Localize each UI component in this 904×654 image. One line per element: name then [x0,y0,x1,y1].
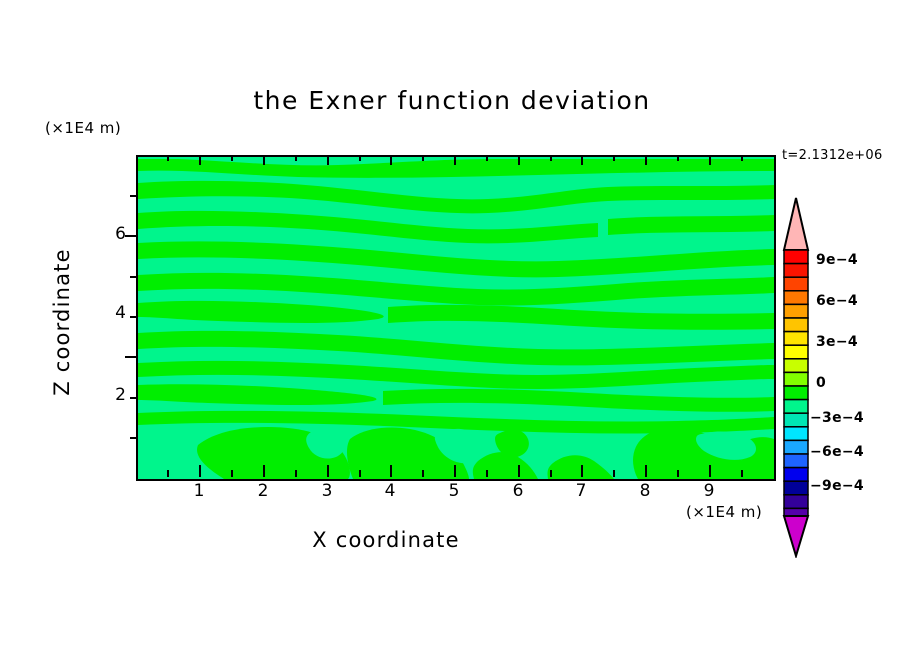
x-minor-tick [231,470,233,477]
x-tick-label: 2 [248,481,278,501]
x-top-minor-tick [677,155,679,161]
x-major-tick [263,465,265,477]
x-minor-tick [613,470,615,477]
y-minor-tick [130,195,137,197]
colorbar-tick-label: −3e−4 [810,410,864,426]
y-tick-label: 2 [104,385,126,405]
colorbar-tick-label: −9e−4 [810,478,864,494]
x-top-minor-tick [486,155,488,161]
x-top-major-tick [454,155,456,165]
x-top-minor-tick [231,155,233,161]
x-top-minor-tick [550,155,552,161]
x-top-major-tick [581,155,583,165]
x-major-tick [581,465,583,477]
y-tick-label: 6 [104,224,126,244]
x-tick-label: 6 [503,481,533,501]
y-minor-tick [130,276,137,278]
y-tick-label: 4 [104,303,126,323]
x-top-major-tick [709,155,711,165]
x-minor-tick [295,470,297,477]
x-minor-tick [486,470,488,477]
x-tick-label: 3 [312,481,342,501]
x-top-minor-tick [422,155,424,161]
x-axis-title: X coordinate [0,528,772,552]
x-top-major-tick [518,155,520,165]
x-tick-label: 1 [184,481,214,501]
y-axis-unit-label: (×1E4 m) [45,119,121,137]
colorbar [779,196,813,516]
timestamp-annotation: t=2.1312e+06 [782,148,883,163]
x-minor-tick [359,470,361,477]
x-major-tick [709,465,711,477]
colorbar-band-group [784,250,808,516]
y-major-tick [125,235,137,237]
colorbar-tick-label: 3e−4 [816,334,858,350]
x-tick-label: 7 [566,481,596,501]
colorbar-tick-label: 0 [816,375,826,391]
x-minor-tick [422,470,424,477]
x-minor-tick [741,470,743,477]
x-top-major-tick [327,155,329,165]
colorbar-tick-label: 6e−4 [816,293,858,309]
contour-plot-area [136,155,776,481]
colorbar-tick-label: 9e−4 [816,252,858,268]
x-top-major-tick [199,155,201,165]
colorbar-cap-bottom [779,514,813,558]
x-top-minor-tick [167,155,169,161]
colorbar-swatches [779,196,813,516]
x-axis-unit-label: (×1E4 m) [686,503,762,521]
x-major-tick [645,465,647,477]
x-top-minor-tick [741,155,743,161]
x-major-tick [199,465,201,477]
colorbar-cap-top [784,198,808,250]
x-minor-tick [677,470,679,477]
x-top-minor-tick [613,155,615,161]
x-major-tick [390,465,392,477]
x-major-tick [454,465,456,477]
x-top-minor-tick [359,155,361,161]
x-top-major-tick [263,155,265,165]
y-major-tick [125,356,137,358]
x-minor-tick [550,470,552,477]
x-top-minor-tick [295,155,297,161]
colorbar-tick-label: −6e−4 [810,444,864,460]
x-top-major-tick [390,155,392,165]
x-tick-label: 8 [630,481,660,501]
y-minor-tick [130,437,137,439]
x-top-major-tick [645,155,647,165]
x-tick-label: 5 [439,481,469,501]
x-major-tick [327,465,329,477]
chart-title: the Exner function deviation [0,86,904,115]
x-tick-label: 9 [694,481,724,501]
x-minor-tick [167,470,169,477]
y-axis-title: Z coordinate [50,227,74,417]
y-minor-tick [130,316,137,318]
x-tick-label: 4 [375,481,405,501]
contour-field [138,157,774,479]
x-major-tick [518,465,520,477]
y-minor-tick [130,397,137,399]
